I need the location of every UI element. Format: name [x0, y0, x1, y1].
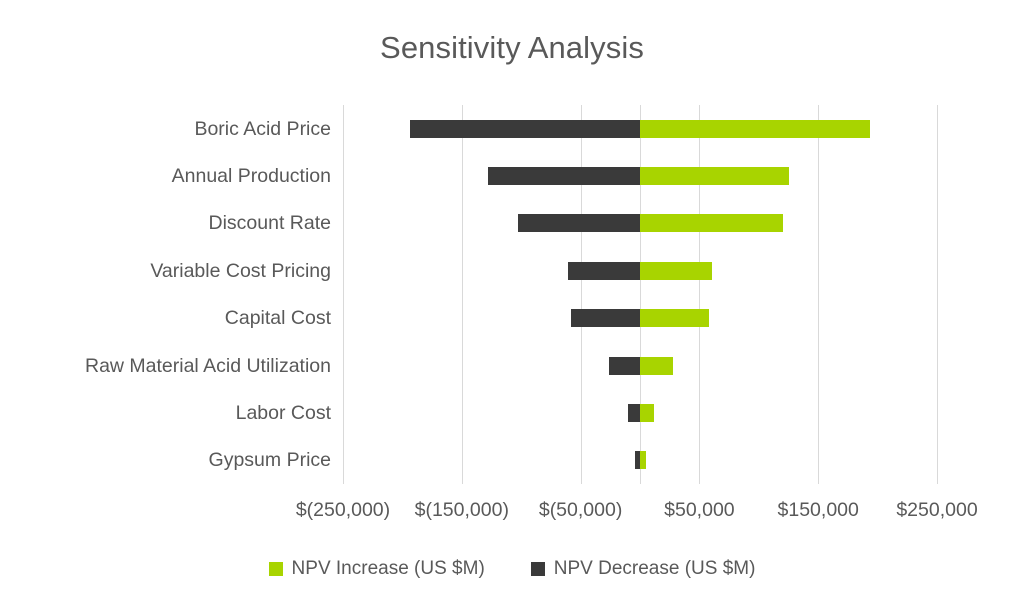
category-label: Gypsum Price [0, 448, 331, 472]
bar-row [343, 309, 937, 327]
legend-label: NPV Increase (US $M) [292, 558, 485, 580]
legend-item[interactable]: NPV Increase (US $M) [269, 558, 485, 580]
bar-npv-decrease[interactable] [628, 404, 640, 422]
category-label: Boric Acid Price [0, 117, 331, 141]
bar-row [343, 404, 937, 422]
bar-row [343, 214, 937, 232]
legend-item[interactable]: NPV Decrease (US $M) [531, 558, 756, 580]
sensitivity-analysis-chart: Sensitivity Analysis Boric Acid PriceAnn… [0, 0, 1024, 614]
bar-npv-decrease[interactable] [571, 309, 640, 327]
gridline-2 [581, 105, 582, 484]
gridline-4 [818, 105, 819, 484]
bar-row [343, 451, 937, 469]
plot-area [343, 105, 937, 484]
bar-row [343, 120, 937, 138]
bar-npv-increase[interactable] [640, 309, 709, 327]
gridline-5 [937, 105, 938, 484]
legend-swatch-icon [269, 562, 283, 576]
bar-npv-decrease[interactable] [488, 167, 640, 185]
bar-row [343, 167, 937, 185]
bar-npv-decrease[interactable] [518, 214, 640, 232]
bar-row [343, 262, 937, 280]
bar-npv-decrease[interactable] [568, 262, 640, 280]
x-axis: $(250,000)$(150,000)$(50,000)$50,000$150… [0, 497, 1024, 527]
category-label: Capital Cost [0, 306, 331, 330]
bar-npv-increase[interactable] [640, 357, 673, 375]
bar-npv-increase[interactable] [640, 451, 646, 469]
bar-row [343, 357, 937, 375]
bar-npv-decrease[interactable] [609, 357, 640, 375]
gridline-0 [343, 105, 344, 484]
bar-npv-increase[interactable] [640, 404, 654, 422]
zero-gridline [640, 105, 641, 484]
chart-legend: NPV Increase (US $M)NPV Decrease (US $M) [0, 558, 1024, 580]
gridline-3 [699, 105, 700, 484]
category-axis: Boric Acid PriceAnnual ProductionDiscoun… [0, 105, 331, 484]
category-label: Variable Cost Pricing [0, 259, 331, 283]
category-label: Labor Cost [0, 401, 331, 425]
bar-npv-increase[interactable] [640, 120, 870, 138]
bar-npv-increase[interactable] [640, 167, 789, 185]
bar-npv-decrease[interactable] [410, 120, 640, 138]
bar-npv-increase[interactable] [640, 214, 783, 232]
legend-label: NPV Decrease (US $M) [554, 558, 756, 580]
category-label: Discount Rate [0, 211, 331, 235]
chart-title: Sensitivity Analysis [0, 28, 1024, 68]
bar-npv-increase[interactable] [640, 262, 712, 280]
gridline-1 [462, 105, 463, 484]
x-tick-label: $250,000 [857, 497, 1017, 523]
legend-swatch-icon [531, 562, 545, 576]
category-label: Raw Material Acid Utilization [0, 354, 331, 378]
category-label: Annual Production [0, 164, 331, 188]
